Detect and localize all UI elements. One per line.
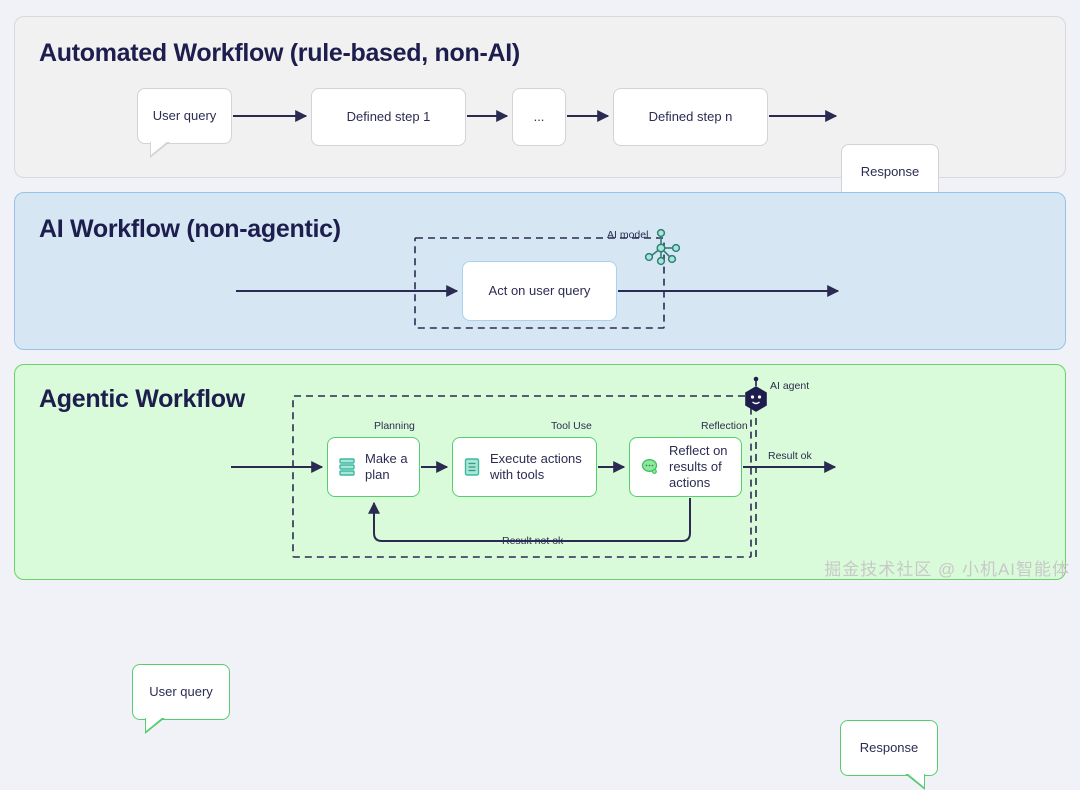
boundary-label-ai-model: AI model	[607, 229, 648, 241]
thought-bubble-icon	[640, 457, 660, 477]
node-label: Response	[860, 740, 919, 756]
node-act-on-user-query: Act on user query	[462, 261, 617, 321]
caption-reflection: Reflection	[701, 420, 748, 432]
document-icon	[463, 457, 481, 477]
bubble-tail-inner	[146, 717, 163, 731]
node-label: Defined step 1	[347, 109, 431, 125]
node-execute-actions: Execute actions with tools	[452, 437, 597, 497]
node-reflect-on-results: Reflect on results of actions	[629, 437, 742, 497]
edge-label-result-not-ok: Result not ok	[497, 535, 568, 547]
panel-title-automated: Automated Workflow (rule-based, non-AI)	[39, 39, 520, 68]
node-defined-step-1: Defined step 1	[311, 88, 466, 146]
node-label: User query	[153, 108, 217, 124]
node-make-a-plan: Make a plan	[327, 437, 420, 497]
node-user-query-automated: User query	[137, 88, 232, 144]
node-label: User query	[149, 684, 213, 700]
boundary-label-ai-agent: AI agent	[770, 380, 809, 392]
layers-icon	[338, 457, 356, 477]
node-response-agentic: Response	[840, 720, 938, 776]
node-label: ...	[534, 109, 545, 125]
node-label: Act on user query	[489, 283, 591, 299]
panel-title-agentic: Agentic Workflow	[39, 385, 245, 414]
diagram-canvas: Automated Workflow (rule-based, non-AI) …	[0, 0, 1080, 594]
node-label: Make a plan	[365, 451, 419, 484]
node-label: Reflect on results of actions	[669, 443, 741, 492]
node-defined-step-n: Defined step n	[613, 88, 768, 146]
edge-label-result-ok: Result ok	[768, 450, 812, 462]
node-label: Response	[861, 164, 920, 180]
bubble-tail-inner	[151, 141, 168, 155]
caption-planning: Planning	[374, 420, 415, 432]
node-label: Execute actions with tools	[490, 451, 596, 484]
node-label: Defined step n	[649, 109, 733, 125]
node-user-query-agentic: User query	[132, 664, 230, 720]
panel-title-ai: AI Workflow (non-agentic)	[39, 215, 341, 244]
bubble-tail-inner	[907, 773, 924, 787]
watermark: 掘金技术社区 @ 小机AI智能体	[824, 555, 1070, 580]
caption-tool-use: Tool Use	[551, 420, 592, 432]
node-ellipsis-step: ...	[512, 88, 566, 146]
